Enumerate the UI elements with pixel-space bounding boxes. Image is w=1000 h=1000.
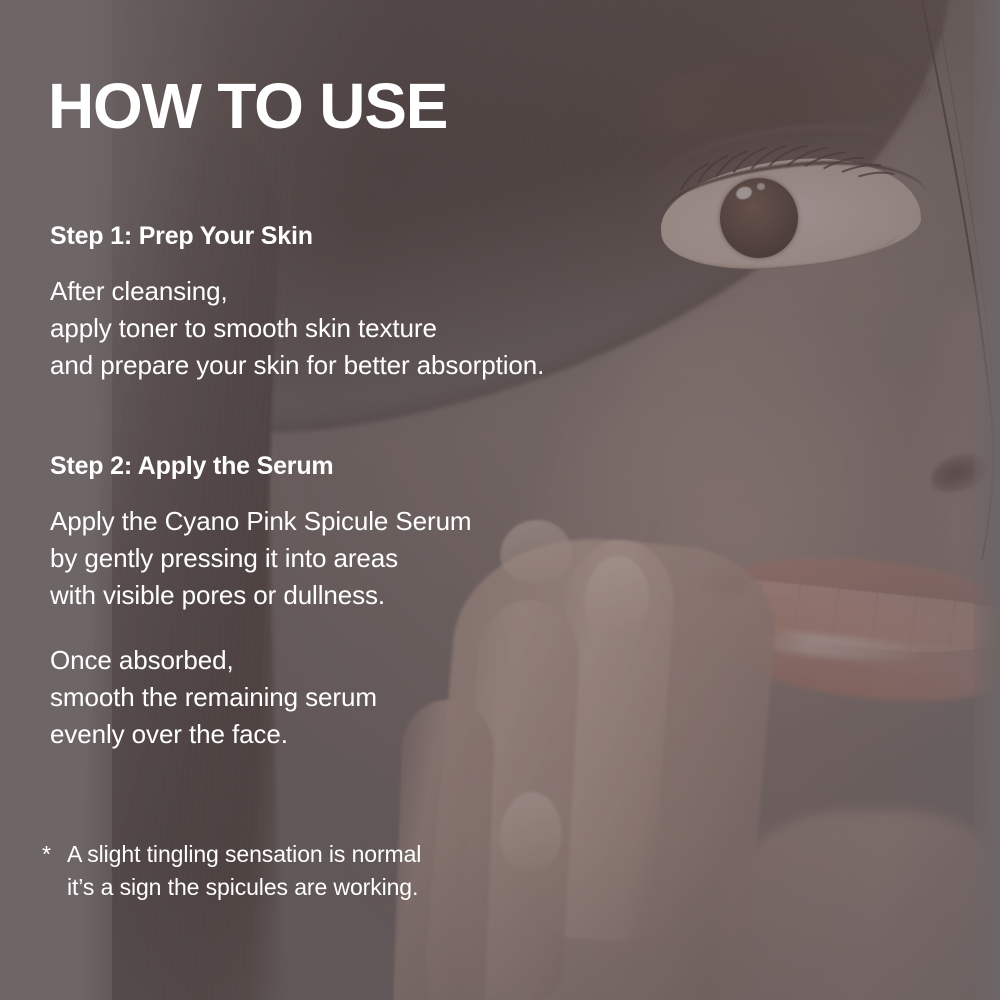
footnote-line-2: it’s a sign the spicules are working. — [42, 871, 421, 904]
step-2-p1-line-3: with visible pores or dullness. — [50, 577, 472, 614]
page-title: HOW TO USE — [48, 74, 447, 138]
footnote-line-1: *A slight tingling sensation is normal — [42, 838, 421, 871]
step-1-line-2: apply toner to smooth skin texture — [50, 310, 544, 347]
step-2-p1-line-2: by gently pressing it into areas — [50, 540, 472, 577]
step-1-paragraph: After cleansing, apply toner to smooth s… — [50, 273, 544, 384]
step-2-heading: Step 2: Apply the Serum — [50, 452, 472, 481]
step-2-paragraph-1: Apply the Cyano Pink Spicule Serum by ge… — [50, 503, 472, 614]
step-1-line-1: After cleansing, — [50, 273, 544, 310]
footnote-text-1: A slight tingling sensation is normal — [67, 841, 421, 867]
step-1-heading: Step 1: Prep Your Skin — [50, 222, 544, 251]
step-1-line-3: and prepare your skin for better absorpt… — [50, 347, 544, 384]
footnote: *A slight tingling sensation is normal i… — [42, 838, 421, 904]
step-2-p2-line-3: evenly over the face. — [50, 716, 472, 753]
step-2-p1-line-1: Apply the Cyano Pink Spicule Serum — [50, 503, 472, 540]
step-2-block: Step 2: Apply the Serum Apply the Cyano … — [50, 452, 472, 753]
step-2-paragraph-2: Once absorbed, smooth the remaining seru… — [50, 642, 472, 753]
step-2-p2-line-2: smooth the remaining serum — [50, 679, 472, 716]
how-to-use-panel: HOW TO USE Step 1: Prep Your Skin After … — [0, 0, 1000, 1000]
instruction-content: HOW TO USE Step 1: Prep Your Skin After … — [0, 0, 1000, 1000]
step-2-p2-line-1: Once absorbed, — [50, 642, 472, 679]
step-1-block: Step 1: Prep Your Skin After cleansing, … — [50, 222, 544, 384]
asterisk-icon: * — [42, 838, 67, 871]
